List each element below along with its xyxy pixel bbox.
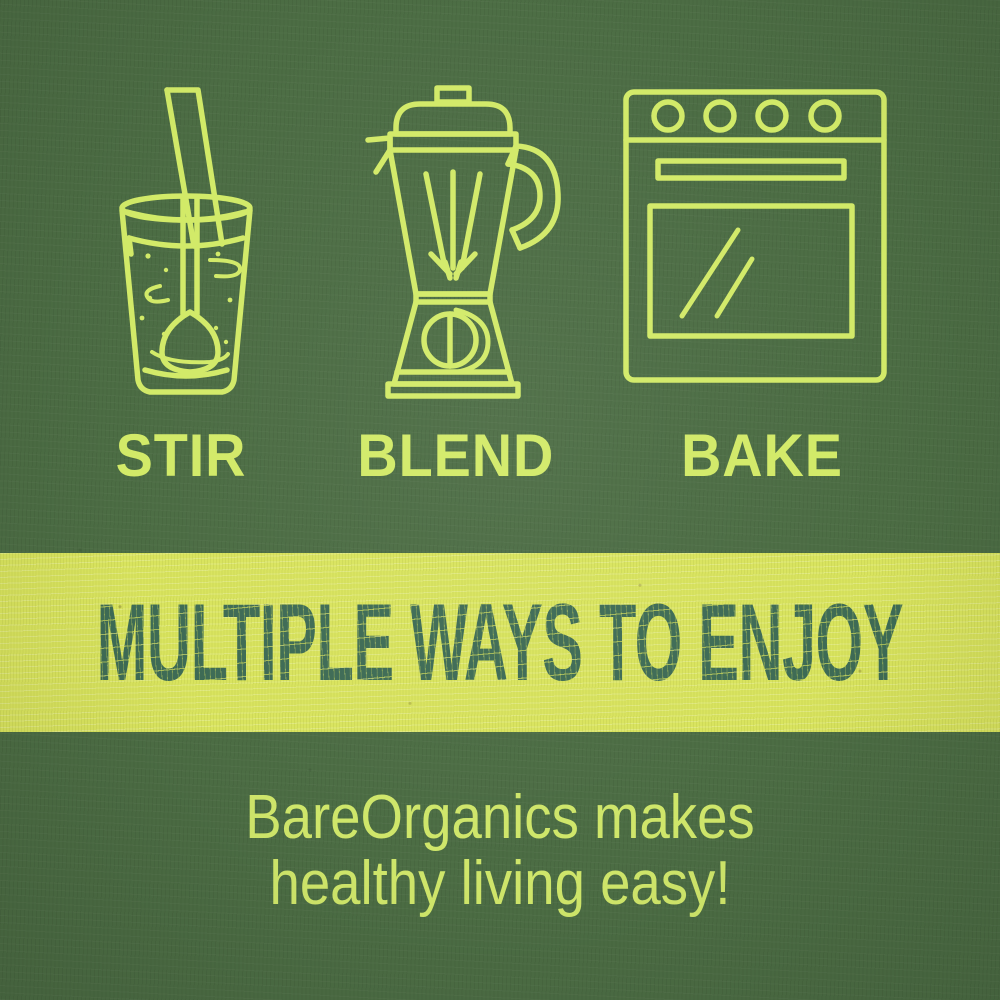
headline-wrapper: MULTIPLE WAYS TO ENJOY (0, 553, 1000, 732)
label-blend: BLEND (357, 425, 552, 487)
tagline-line-2: healthy living easy! (60, 851, 940, 917)
method-labels: STIR BLEND BAKE (0, 425, 1000, 495)
headline-text: MULTIPLE WAYS TO ENJOY (97, 588, 903, 697)
method-icon-row (0, 78, 1000, 408)
promo-poster: STIR BLEND BAKE MULTIPLE WAYS TO ENJOY B… (0, 0, 1000, 1000)
oven-icon (610, 78, 900, 408)
blender-icon (350, 78, 580, 408)
tagline: BareOrganics makes healthy living easy! (0, 785, 1000, 917)
stir-glass-spoon-icon (90, 78, 290, 408)
label-bake: BAKE (669, 425, 855, 487)
tagline-line-1: BareOrganics makes (60, 785, 940, 851)
label-stir: STIR (88, 425, 274, 487)
headline-banner: MULTIPLE WAYS TO ENJOY (0, 553, 1000, 732)
